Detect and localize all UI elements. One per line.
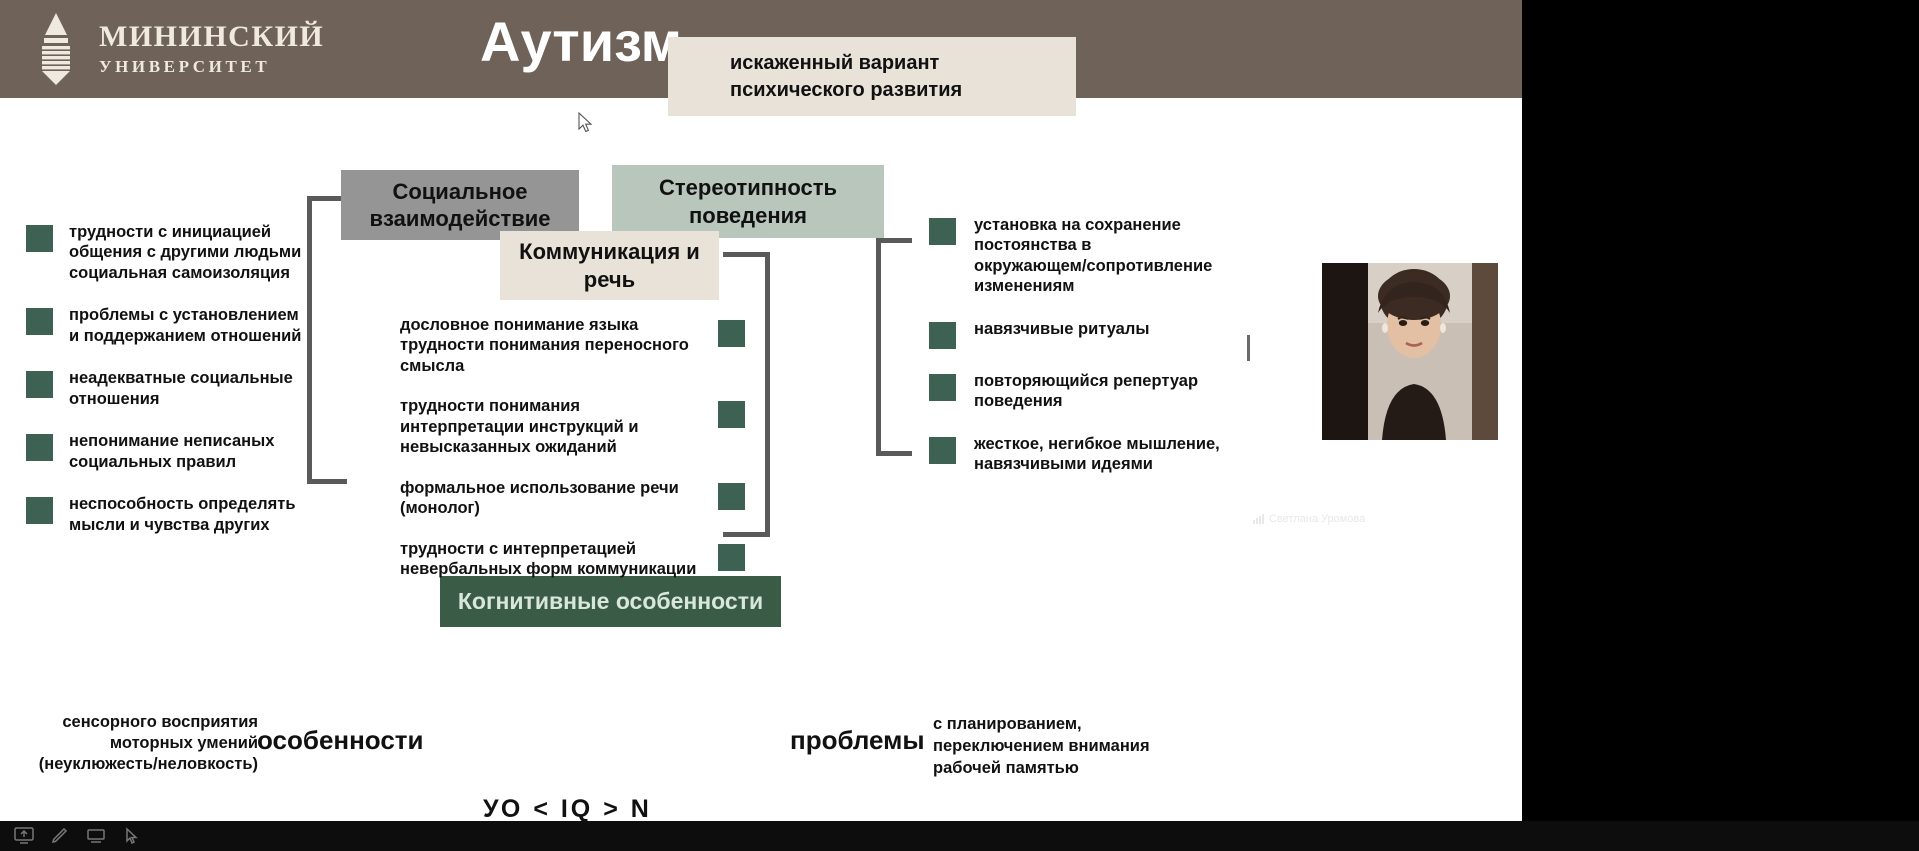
bullet-square-icon: [929, 218, 956, 245]
list-item: формальное использование речи (монолог): [400, 478, 745, 519]
list-stereotypy: установка на сохранение постоянства в ок…: [929, 215, 1239, 497]
bullet-square-icon: [718, 544, 745, 571]
list-item-label: трудности понимания интерпретации инстру…: [400, 396, 706, 457]
list-item: установка на сохранение постоянства в ок…: [929, 215, 1239, 297]
left-line-1: сенсорного восприятия: [18, 712, 258, 733]
list-item-label: дословное понимание языка трудности пони…: [400, 315, 706, 376]
bullet-square-icon: [929, 437, 956, 464]
participant-name-label: Светлана Уромова: [1253, 513, 1365, 525]
box-social-interaction: Социальное взаимодействие: [341, 170, 579, 240]
list-item: непонимание неписаных социальных правил: [26, 431, 326, 472]
list-item-label: навязчивые ритуалы: [974, 319, 1149, 339]
bullet-square-icon: [26, 371, 53, 398]
participant-video-frame: [1322, 263, 1498, 440]
list-item: трудности понимания интерпретации инстру…: [400, 396, 745, 457]
list-item-label: формальное использование речи (монолог): [400, 478, 706, 519]
box-communication-speech: Коммуникация и речь: [500, 231, 719, 300]
list-item: неспособность определять мысли и чувства…: [26, 494, 326, 535]
video-sidebar: [1522, 0, 1919, 821]
share-screen-icon[interactable]: [14, 827, 34, 845]
list-item-label: трудности с интерпретацией невербальных …: [400, 539, 706, 580]
mininsky-university-logo-icon: [33, 13, 79, 85]
signal-bars-icon: [1253, 514, 1264, 524]
meeting-screen-share-view: МИНИНСКИЙ УНИВЕРСИТЕТ Аутизм искаженный …: [0, 0, 1919, 851]
slide-title: Аутизм: [480, 9, 682, 74]
logo-wordmark: МИНИНСКИЙ УНИВЕРСИТЕТ: [99, 21, 324, 77]
bullet-square-icon: [718, 320, 745, 347]
bullet-square-icon: [718, 483, 745, 510]
iq-formula: УО < IQ > N: [483, 795, 652, 824]
list-item: навязчивые ритуалы: [929, 319, 1239, 349]
bullet-square-icon: [26, 225, 53, 252]
list-communication-speech: дословное понимание языка трудности пони…: [400, 315, 745, 600]
cognitive-features-left-text: сенсорного восприятия моторных умений (н…: [18, 712, 258, 775]
pane-resize-handle[interactable]: [1247, 335, 1250, 361]
list-item: повторяющийся репертуар поведения: [929, 371, 1239, 412]
cognitive-features-right-text: с планированием, переключением внимания …: [933, 714, 1213, 779]
list-item-label: жесткое, негибкое мышление, навязчивыми …: [974, 434, 1220, 475]
list-social-interaction: трудности с инициацией общения с другими…: [26, 222, 326, 557]
list-item-label: неадекватные социальные отношения: [69, 368, 293, 409]
bullet-square-icon: [26, 497, 53, 524]
callout-line-2: психического развития: [730, 77, 1076, 104]
slides-icon[interactable]: [86, 827, 106, 845]
list-item-label: неспособность определять мысли и чувства…: [69, 494, 295, 535]
list-item-label: непонимание неписаных социальных правил: [69, 431, 274, 472]
university-logo: МИНИНСКИЙ УНИВЕРСИТЕТ: [33, 13, 324, 85]
participant-name: Светлана Уромова: [1269, 513, 1365, 525]
label-problemy: проблемы: [790, 725, 925, 756]
list-item: трудности с инициацией общения с другими…: [26, 222, 326, 283]
list-item-label: установка на сохранение постоянства в ок…: [974, 215, 1212, 297]
list-item: трудности с интерпретацией невербальных …: [400, 539, 745, 580]
list-item-label: трудности с инициацией общения с другими…: [69, 222, 301, 283]
callout-distorted-variant: искаженный вариант психического развития: [668, 37, 1076, 116]
bullet-square-icon: [26, 434, 53, 461]
pen-icon[interactable]: [50, 827, 70, 845]
pointer-icon[interactable]: [122, 827, 142, 845]
list-item-label: повторяющийся репертуар поведения: [974, 371, 1198, 412]
list-item: дословное понимание языка трудности пони…: [400, 315, 745, 376]
bullet-square-icon: [26, 308, 53, 335]
left-line-3: (неуклюжесть/неловкость): [18, 754, 258, 775]
bullet-square-icon: [929, 374, 956, 401]
box-stereotypy: Стереотипность поведения: [612, 165, 884, 238]
list-item: проблемы с установлением и поддержанием …: [26, 305, 326, 346]
bracket-stereotypy: [876, 238, 912, 456]
logo-title: МИНИНСКИЙ: [99, 21, 324, 53]
list-item: жесткое, негибкое мышление, навязчивыми …: [929, 434, 1239, 475]
bullet-square-icon: [718, 401, 745, 428]
bullet-square-icon: [929, 322, 956, 349]
left-line-2: моторных умений: [18, 733, 258, 754]
list-item-label: проблемы с установлением и поддержанием …: [69, 305, 301, 346]
label-osobennosti: особенности: [257, 725, 424, 756]
mouse-cursor-icon: [578, 112, 594, 134]
list-item: неадекватные социальные отношения: [26, 368, 326, 409]
participant-video-tile[interactable]: [1322, 263, 1498, 440]
bottom-toolbar: [0, 821, 1919, 851]
callout-line-1: искаженный вариант: [730, 50, 1076, 77]
presentation-slide: МИНИНСКИЙ УНИВЕРСИТЕТ Аутизм искаженный …: [0, 0, 1522, 821]
logo-subtitle: УНИВЕРСИТЕТ: [99, 57, 270, 77]
